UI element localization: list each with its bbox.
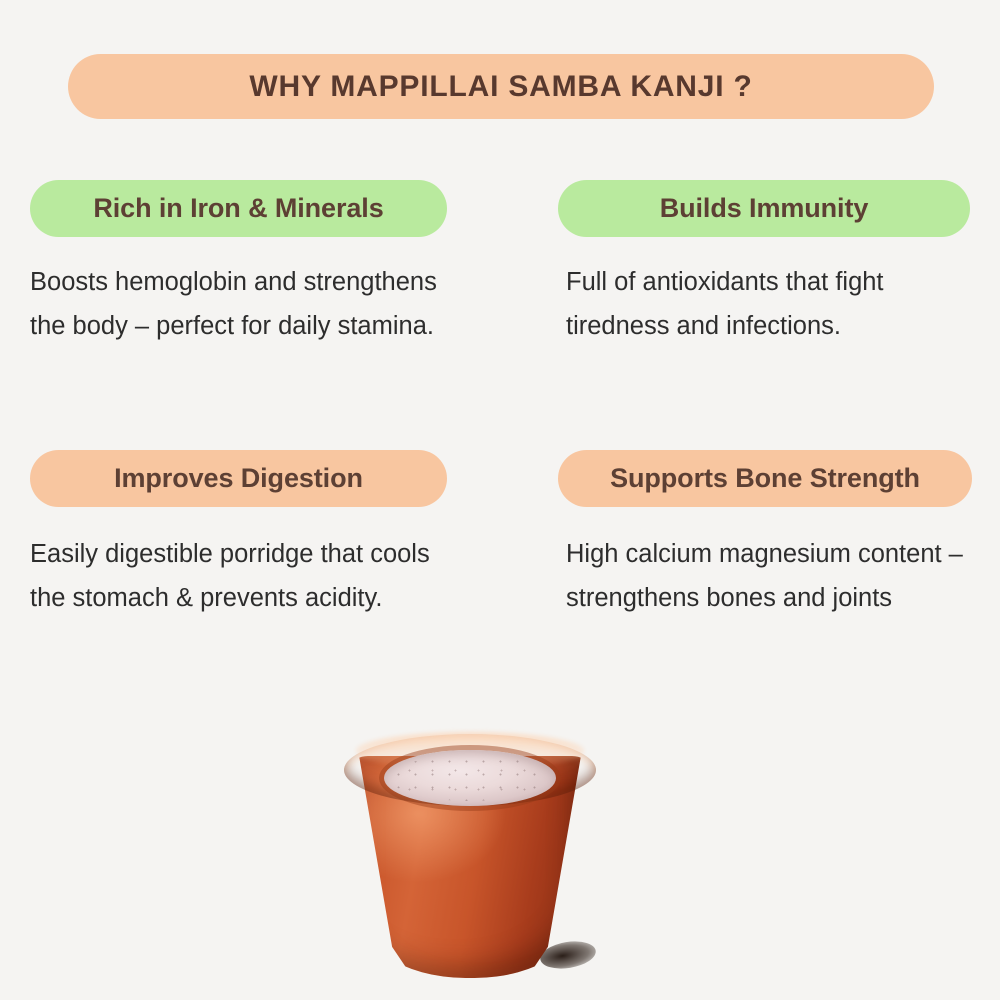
benefit-pill-label: Supports Bone Strength bbox=[610, 465, 920, 492]
benefits-row-1: Rich in Iron & Minerals Boosts hemoglobi… bbox=[0, 180, 1000, 450]
benefit-description: Boosts hemoglobin and strengthens the bo… bbox=[30, 261, 450, 349]
page-title-banner: WHY MAPPILLAI SAMBA KANJI ? bbox=[68, 54, 934, 119]
benefit-card-improves-digestion: Improves Digestion Easily digestible por… bbox=[0, 450, 530, 690]
benefit-card-builds-immunity: Builds Immunity Full of antioxidants tha… bbox=[530, 180, 1000, 450]
benefit-pill-label: Improves Digestion bbox=[114, 465, 363, 492]
page-title: WHY MAPPILLAI SAMBA KANJI ? bbox=[249, 72, 752, 102]
benefit-pill-improves-digestion: Improves Digestion bbox=[30, 450, 447, 507]
benefit-pill-builds-immunity: Builds Immunity bbox=[558, 180, 970, 237]
cup-liquid-specks bbox=[390, 755, 550, 801]
benefit-pill-label: Rich in Iron & Minerals bbox=[93, 195, 383, 222]
benefit-card-supports-bone-strength: Supports Bone Strength High calcium magn… bbox=[530, 450, 1000, 690]
benefit-card-rich-in-iron-and-minerals: Rich in Iron & Minerals Boosts hemoglobi… bbox=[0, 180, 530, 450]
benefit-pill-label: Builds Immunity bbox=[660, 195, 869, 222]
benefit-pill-supports-bone-strength: Supports Bone Strength bbox=[558, 450, 972, 507]
clay-cup-of-kanji-image bbox=[340, 718, 600, 983]
benefit-description: High calcium magnesium content – strengt… bbox=[566, 533, 966, 621]
benefits-grid: Rich in Iron & Minerals Boosts hemoglobi… bbox=[0, 180, 1000, 690]
benefit-pill-rich-in-iron-and-minerals: Rich in Iron & Minerals bbox=[30, 180, 447, 237]
infographic-root: WHY MAPPILLAI SAMBA KANJI ? Rich in Iron… bbox=[0, 0, 1000, 1000]
benefit-description: Easily digestible porridge that cools th… bbox=[30, 533, 450, 621]
benefit-description: Full of antioxidants that fight tirednes… bbox=[566, 261, 966, 349]
benefits-row-2: Improves Digestion Easily digestible por… bbox=[0, 450, 1000, 690]
illustration-area bbox=[0, 700, 1000, 1000]
